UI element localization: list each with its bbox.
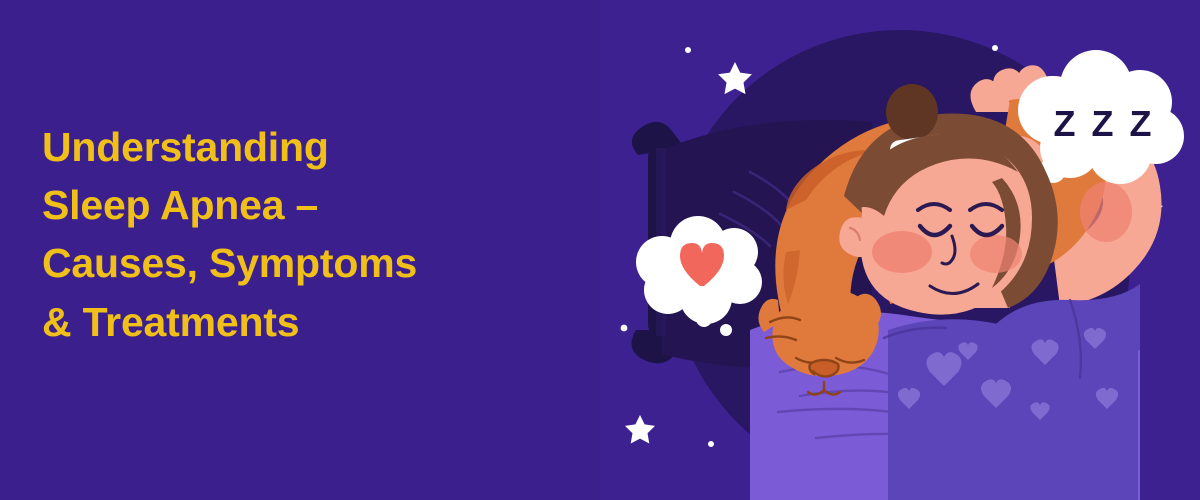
cheek xyxy=(970,235,1022,273)
star-dot-icon xyxy=(685,47,691,53)
hair-bun xyxy=(886,84,938,140)
zzz-label: Z Z Z xyxy=(1054,103,1155,144)
bubble-dot xyxy=(720,324,732,336)
bubble-dot xyxy=(696,311,712,327)
star-icon xyxy=(625,415,655,443)
cheek xyxy=(872,231,932,273)
sleep-apnea-banner: Understanding Sleep Apnea – Causes, Symp… xyxy=(0,0,1200,500)
star-dot-icon xyxy=(621,325,628,332)
page-title: Understanding Sleep Apnea – Causes, Symp… xyxy=(42,118,582,351)
star-dot-icon xyxy=(708,441,714,447)
illustration-sleeping-woman-with-cat: Z Z Z xyxy=(600,0,1200,500)
star-dot-icon xyxy=(992,45,998,51)
